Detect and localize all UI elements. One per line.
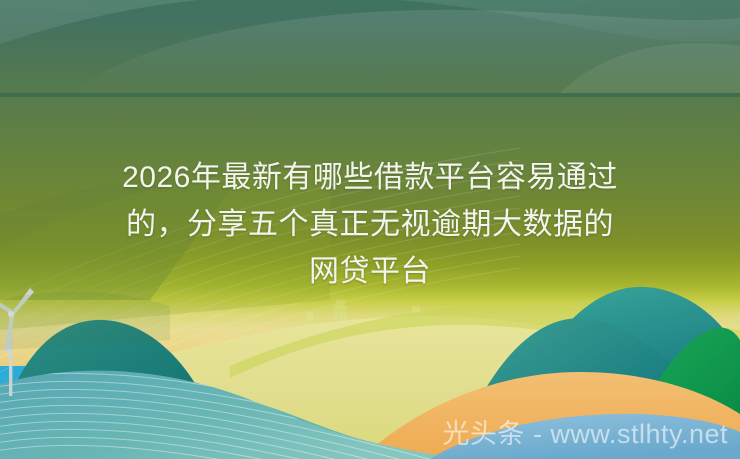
poster-canvas: 2026年最新有哪些借款平台容易通过 的，分享五个真正无视逾期大数据的 网贷平台… [0, 0, 740, 459]
watermark-text: 光头条 - www.stlhty.net [442, 417, 728, 451]
sky-swirl-shapes [0, 0, 740, 93]
title-line-3: 网贷平台 [0, 248, 740, 295]
title-line-1: 2026年最新有哪些借款平台容易通过 [0, 154, 740, 201]
title-line-2: 的，分享五个真正无视逾期大数据的 [0, 201, 740, 248]
field-shadow [0, 291, 170, 350]
poster-title: 2026年最新有哪些借款平台容易通过 的，分享五个真正无视逾期大数据的 网贷平台 [0, 154, 740, 295]
